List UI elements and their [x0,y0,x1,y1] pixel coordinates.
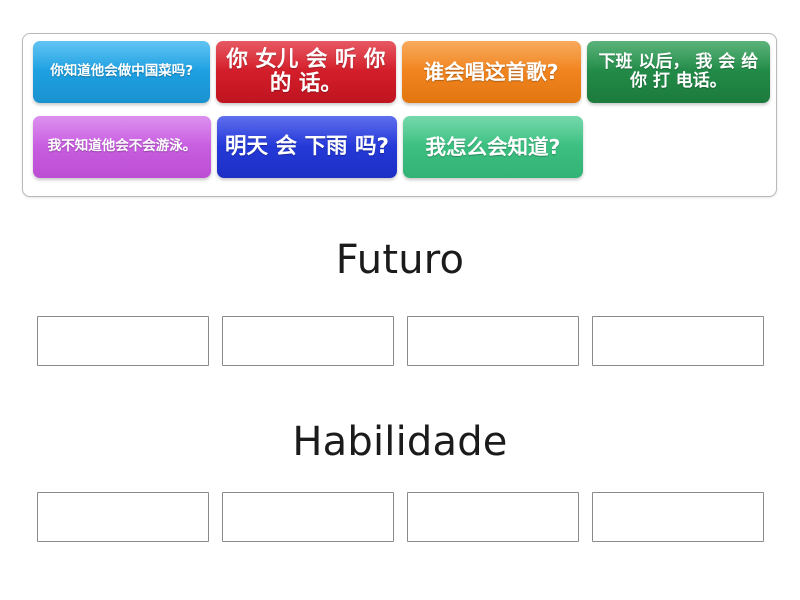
draggable-tile-6[interactable]: 明天 会 下雨 吗? [217,116,397,178]
draggable-tile-2[interactable]: 你 女儿 会 听 你 的 话。 [216,41,395,103]
category-title-futuro: Futuro [0,237,800,283]
word-bank-row-1: 你知道他会做中国菜吗? 你 女儿 会 听 你 的 话。 谁会唱这首歌? 下班 以… [33,41,776,111]
dropzone-group-habilidade [37,492,764,542]
dropzone-futuro-1[interactable] [37,316,209,366]
draggable-tile-4[interactable]: 下班 以后， 我 会 给 你 打 电话。 [587,41,770,103]
draggable-tile-7[interactable]: 我怎么会知道? [403,116,583,178]
dropzone-habilidade-1[interactable] [37,492,209,542]
dropzone-habilidade-3[interactable] [407,492,579,542]
draggable-tile-1[interactable]: 你知道他会做中国菜吗? [33,41,210,103]
dropzone-futuro-3[interactable] [407,316,579,366]
tile-label: 我怎么会知道? [426,136,561,159]
dropzone-futuro-2[interactable] [222,316,394,366]
tile-label: 我不知道他会不会游泳。 [48,139,197,154]
tile-label: 你 女儿 会 听 你 的 话。 [221,48,390,96]
word-bank-row-2: 我不知道他会不会游泳。 明天 会 下雨 吗? 我怎么会知道? [33,116,776,186]
dropzone-futuro-4[interactable] [592,316,764,366]
tile-label: 下班 以后， 我 会 给 你 打 电话。 [592,53,765,91]
dropzone-habilidade-4[interactable] [592,492,764,542]
tile-label: 谁会唱这首歌? [424,61,559,84]
category-title-habilidade: Habilidade [0,419,800,465]
dropzone-group-futuro [37,316,764,366]
draggable-tile-3[interactable]: 谁会唱这首歌? [402,41,581,103]
tile-label: 明天 会 下雨 吗? [225,135,389,159]
tile-label: 你知道他会做中国菜吗? [50,64,193,79]
word-bank: 你知道他会做中国菜吗? 你 女儿 会 听 你 的 话。 谁会唱这首歌? 下班 以… [22,33,777,197]
dropzone-habilidade-2[interactable] [222,492,394,542]
draggable-tile-5[interactable]: 我不知道他会不会游泳。 [33,116,211,178]
